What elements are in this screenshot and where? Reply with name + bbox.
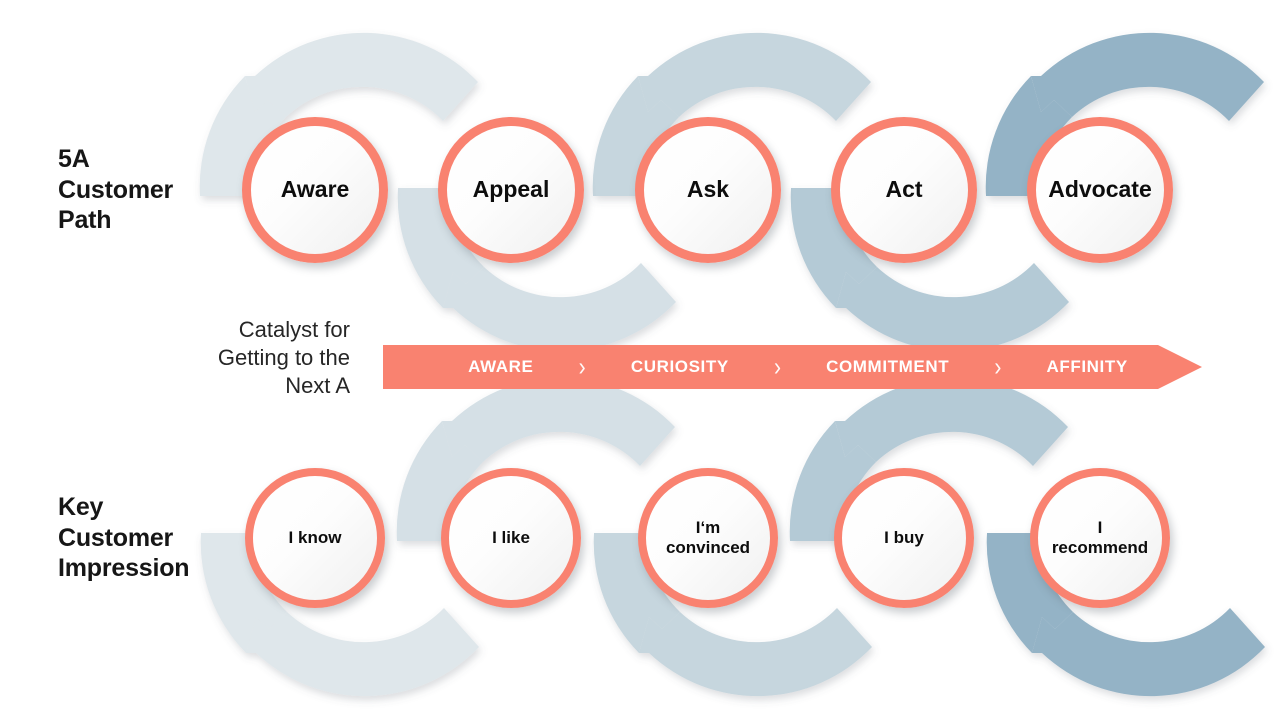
- chevron-right-icon-3: ›: [994, 354, 1001, 380]
- stage-node-aware-label: Aware: [281, 176, 350, 203]
- chevron-right-icon-2: ›: [774, 354, 781, 380]
- catalyst-step-curiosity[interactable]: CURIOSITY: [631, 357, 729, 377]
- impression-node-i-recommend[interactable]: I recommend: [1030, 468, 1170, 608]
- stage-node-appeal[interactable]: Appeal: [438, 117, 584, 263]
- stage-node-advocate-label: Advocate: [1048, 176, 1152, 203]
- page-title-key-customer-impression: Key Customer Impression: [58, 492, 189, 584]
- impression-node-i-like[interactable]: I like: [441, 468, 581, 608]
- slide-canvas: 5A Customer Path Aware Appeal Ask Act Ad…: [0, 0, 1280, 720]
- impression-node-i-recommend-label: I recommend: [1052, 518, 1148, 558]
- stage-node-advocate[interactable]: Advocate: [1027, 117, 1173, 263]
- impression-node-im-convinced[interactable]: I‘m convinced: [638, 468, 778, 608]
- stage-node-ask[interactable]: Ask: [635, 117, 781, 263]
- impression-node-i-know[interactable]: I know: [245, 468, 385, 608]
- catalyst-step-commitment[interactable]: COMMITMENT: [826, 357, 949, 377]
- stage-node-act-label: Act: [885, 176, 922, 203]
- impression-node-im-convinced-label: I‘m convinced: [666, 518, 750, 558]
- chevron-right-icon-1: ›: [579, 354, 586, 380]
- catalyst-arrow-banner: AWARE › CURIOSITY › COMMITMENT › AFFINIT…: [383, 345, 1202, 389]
- stage-node-appeal-label: Appeal: [473, 176, 550, 203]
- catalyst-steps-list: AWARE › CURIOSITY › COMMITMENT › AFFINIT…: [383, 345, 1173, 389]
- catalyst-step-affinity[interactable]: AFFINITY: [1047, 357, 1128, 377]
- impression-node-i-buy[interactable]: I buy: [834, 468, 974, 608]
- stage-node-aware[interactable]: Aware: [242, 117, 388, 263]
- impression-node-i-know-label: I know: [289, 528, 342, 548]
- catalyst-row-label: Catalyst for Getting to the Next A: [150, 316, 350, 400]
- catalyst-step-aware[interactable]: AWARE: [468, 357, 533, 377]
- stage-node-ask-label: Ask: [687, 176, 729, 203]
- impression-node-i-like-label: I like: [492, 528, 530, 548]
- page-title-5a-customer-path: 5A Customer Path: [58, 144, 173, 236]
- stage-node-act[interactable]: Act: [831, 117, 977, 263]
- impression-node-i-buy-label: I buy: [884, 528, 924, 548]
